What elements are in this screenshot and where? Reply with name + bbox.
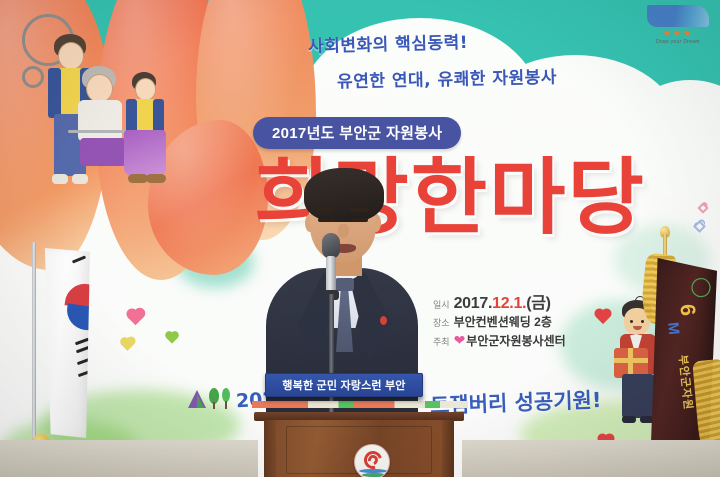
eye-left — [318, 218, 334, 222]
flag-letter-g: ◯ — [689, 276, 714, 300]
place-label: 장소 — [433, 315, 450, 332]
eyebrow-left — [316, 208, 335, 212]
date-year: 2017. — [454, 295, 493, 312]
event-date-row: 일시 2017. 12. 1. (금) — [433, 295, 566, 314]
event-place-row: 장소 부안컨벤션웨딩 2층 — [433, 314, 566, 332]
emblem-wave-green — [362, 473, 386, 477]
event-host-row: 주최 ❤ 부안군자원봉사센터 — [433, 332, 566, 351]
date-day: 1. — [513, 295, 526, 312]
heart-mark-icon: ❤ — [454, 332, 466, 349]
stage-edge-strip — [252, 401, 468, 408]
host-label: 주최 — [433, 334, 450, 351]
eyebrow-right — [350, 208, 369, 212]
podium — [254, 412, 464, 477]
sponsor-logo: ★★★ Draw your Dream — [641, 5, 715, 53]
logo-mark-icon — [647, 5, 709, 27]
event-photo-scene: 사회변화의 핵심동력! 유연한 연대, 유쾌한 자원봉사 2017년도 부안군 … — [0, 0, 720, 477]
logo-slogan: Draw your Dream — [641, 39, 715, 45]
floor-right — [462, 440, 720, 477]
county-emblem-icon — [354, 444, 390, 477]
date-label: 일시 — [433, 297, 450, 314]
trigram-bar — [72, 255, 86, 263]
podium-side-right — [440, 420, 454, 477]
flag-cloth — [42, 248, 90, 438]
event-details-block: 일시 2017. 12. 1. (금) 장소 부안컨벤션웨딩 2층 주최 ❤ 부… — [433, 295, 566, 351]
tagline-line-2: 유연한 연대, 유쾌한 자원봉사 — [337, 63, 557, 93]
floor-left — [0, 440, 258, 477]
eye-right — [352, 218, 368, 222]
wheelchair-volunteer-illustration — [22, 14, 186, 246]
date-month: 12. — [492, 295, 513, 312]
tent-icon — [186, 386, 234, 410]
tagline-line-1: 사회변화의 핵심동력! — [308, 28, 469, 57]
host-value: 부안군자원봉사센터 — [466, 333, 565, 350]
trigram-bar — [76, 346, 90, 354]
lapel-pin — [380, 316, 387, 325]
flag-letter-m: M — [664, 321, 682, 335]
nose — [338, 224, 349, 238]
flag-pole — [32, 242, 36, 442]
trigram-bar — [75, 338, 89, 346]
logo-stars: ★★★ — [641, 29, 715, 38]
place-value: 부안컨벤션웨딩 2층 — [454, 314, 552, 331]
trigram-bar — [78, 370, 91, 377]
trigram-bar — [77, 358, 90, 365]
event-subtitle-pill: 2017년도 부안군 자원봉사 — [253, 117, 461, 149]
korean-national-flag — [30, 248, 90, 444]
podium-body — [276, 420, 442, 477]
date-weekday: (금) — [526, 295, 550, 312]
hair — [304, 168, 384, 222]
necktie-knot — [335, 278, 354, 291]
podium-sign: 행복한 군민 자랑스런 부안 — [265, 373, 423, 397]
flag-number: 6 — [674, 303, 699, 317]
